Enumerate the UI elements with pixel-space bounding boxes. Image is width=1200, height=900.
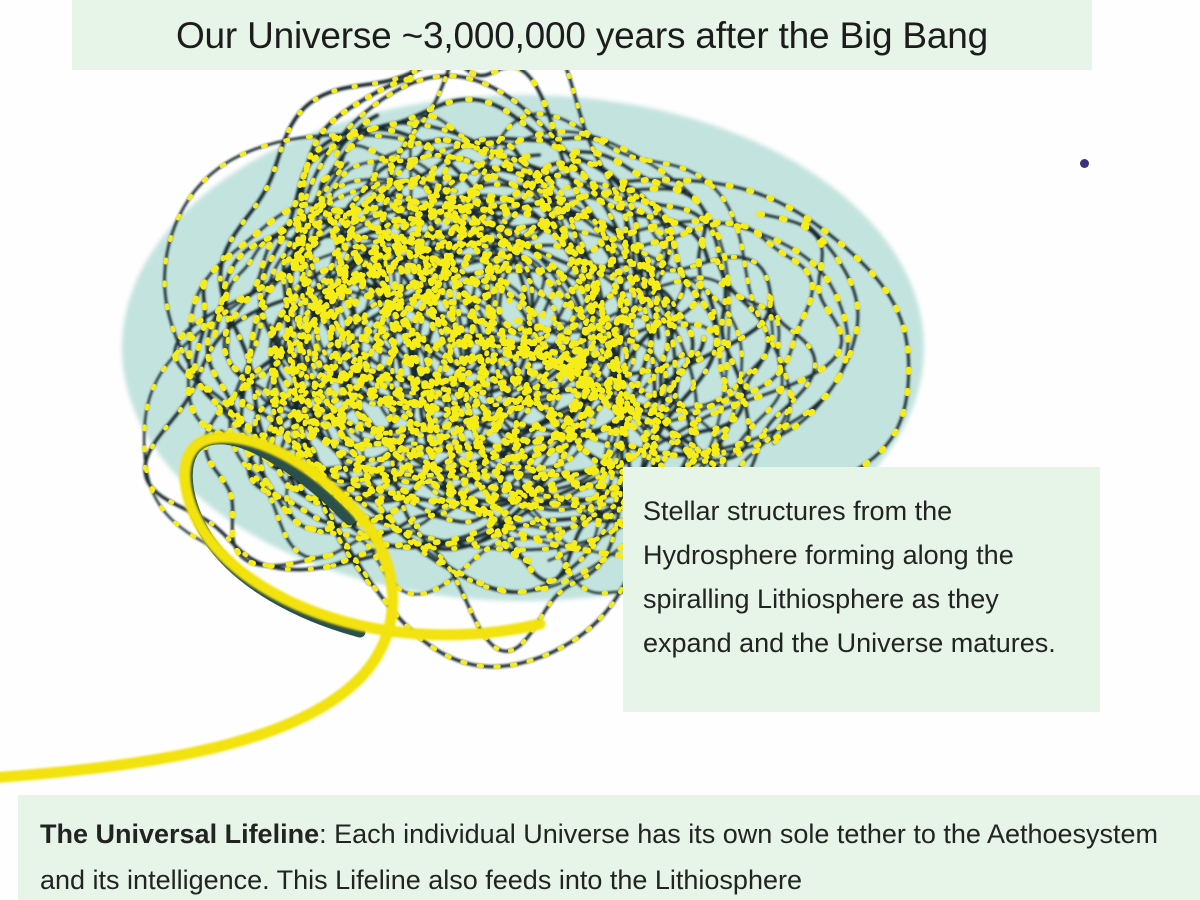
callout-box: Stellar structures from the Hydrosphere …	[623, 467, 1100, 712]
caption-bold-lead: The Universal Lifeline	[40, 819, 319, 849]
page-title: Our Universe ~3,000,000 years after the …	[176, 17, 988, 54]
caption-text: The Universal Lifeline: Each individual …	[40, 811, 1178, 900]
universe-diagram	[0, 0, 1200, 900]
caption-box: The Universal Lifeline: Each individual …	[18, 795, 1200, 900]
stray-dot	[1080, 159, 1089, 168]
callout-text: Stellar structures from the Hydrosphere …	[643, 489, 1080, 665]
slide-title-box: Our Universe ~3,000,000 years after the …	[72, 0, 1092, 70]
slide-canvas: Our Universe ~3,000,000 years after the …	[0, 0, 1200, 900]
